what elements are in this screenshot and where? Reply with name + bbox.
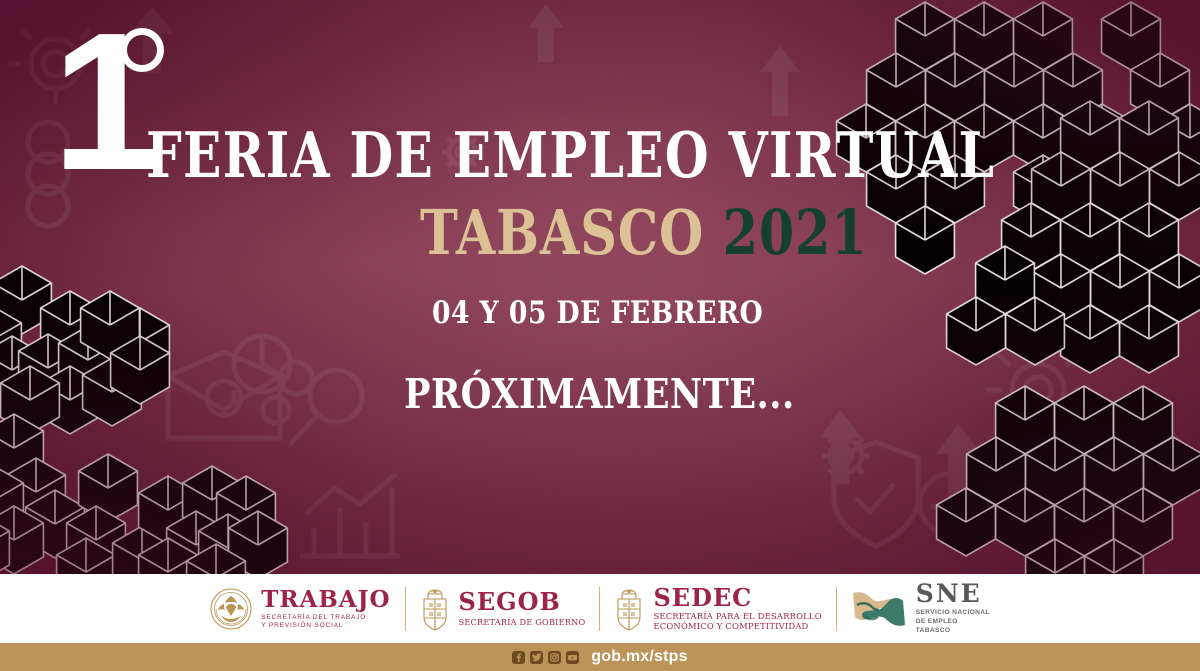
- watermark-icon-layer: [0, 0, 1200, 574]
- arrow-up-icon: [1150, 426, 1190, 498]
- instagram-icon[interactable]: [548, 651, 561, 664]
- tabasco-coat-of-arms-icon: [420, 587, 450, 631]
- target-check-icon: [920, 474, 980, 534]
- arrow-up-icon: [26, 482, 66, 552]
- logo-divider: [405, 587, 406, 631]
- logo-sne-subtitle-1: SERVICIO NACIONAL: [916, 609, 990, 618]
- logo-segob-title: SEGOB: [459, 590, 586, 614]
- logo-segob-subtitle-1: SECRETARÍA DE GOBIERNO: [459, 618, 586, 628]
- poster-dates: 04 Y 05 DE FEBRERO: [432, 298, 763, 329]
- gob-url[interactable]: gob.mx/stps: [591, 648, 687, 666]
- logo-divider: [836, 587, 837, 631]
- lightbulb-rocket-icon: [986, 354, 1090, 517]
- logo-trabajo-subtitle-1: SECRETARÍA DEL TRABAJO: [261, 614, 390, 622]
- logo-sne-subtitle-2: DE EMPLEO: [916, 618, 990, 627]
- logo-sne-subtitle-3: TABASCO: [916, 627, 990, 636]
- poster-year: 2021: [723, 196, 868, 269]
- youtube-icon[interactable]: [566, 651, 579, 664]
- logo-segob: SEGOB SECRETARÍA DE GOBIERNO: [406, 584, 600, 634]
- mexican-eagle-emblem-icon: [210, 588, 252, 630]
- arrow-up-icon: [760, 46, 800, 116]
- poster-banner: .cR .t{fill:#D8republic} .cR .t{fill:#D9…: [0, 0, 1200, 671]
- poster-place-year: TABASCO 2021: [420, 202, 867, 264]
- logo-sne-title: SNE: [916, 581, 990, 606]
- arrow-up-icon: [528, 4, 564, 62]
- tabasco-coat-of-arms-icon: [614, 587, 644, 631]
- logo-sne: SNE SERVICIO NACIONAL DE EMPLEO TABASCO: [837, 584, 1004, 634]
- logo-divider: [599, 587, 600, 631]
- twitter-icon[interactable]: [530, 651, 543, 664]
- logo-sedec-subtitle-1: SECRETARÍA PARA EL DESARROLLO: [653, 612, 821, 622]
- bar-chart-icon: [300, 474, 400, 556]
- envelope-at-icon: [168, 352, 280, 438]
- arrow-up-icon: [936, 424, 982, 502]
- logo-sedec: SEDEC SECRETARÍA PARA EL DESARROLLO ECON…: [600, 584, 835, 634]
- isometric-cube-pattern: .cR .t{fill:#D8republic} .cR .t{fill:#D9…: [0, 0, 1200, 574]
- poster-status: PRÓXIMAMENTE...: [404, 374, 795, 415]
- arrow-up-icon: [0, 284, 32, 340]
- logo-trabajo: TRABAJO SECRETARÍA DEL TRABAJO Y PREVISI…: [196, 584, 404, 634]
- arrow-up-icon: [820, 410, 862, 484]
- social-footer-bar: gob.mx/stps: [0, 643, 1200, 671]
- poster-headline: FERIA DE EMPLEO VIRTUAL: [146, 124, 995, 187]
- degree-symbol-icon: [120, 28, 164, 72]
- logo-sedec-subtitle-2: ECONÓMICO Y COMPETITIVIDAD: [653, 622, 821, 632]
- clasping-hands-icon: [851, 587, 907, 631]
- pie-chart-icon: [234, 336, 290, 392]
- arrow-up-icon: [1128, 36, 1164, 100]
- institutional-logo-band: TRABAJO SECRETARÍA DEL TRABAJO Y PREVISI…: [0, 574, 1200, 643]
- banner-vignette: [0, 0, 1200, 574]
- magnifier-gears-icon: [263, 362, 362, 444]
- facebook-icon[interactable]: [512, 651, 525, 664]
- logo-trabajo-title: TRABAJO: [261, 588, 390, 611]
- poster-place: TABASCO: [420, 196, 704, 269]
- logo-sedec-title: SEDEC: [653, 586, 821, 610]
- gear-icon: [822, 432, 870, 480]
- logo-trabajo-subtitle-2: Y PREVISIÓN SOCIAL: [261, 622, 390, 630]
- banner-background: .cR .t{fill:#D8republic} .cR .t{fill:#D9…: [0, 0, 1200, 574]
- shield-check-icon: [834, 442, 918, 546]
